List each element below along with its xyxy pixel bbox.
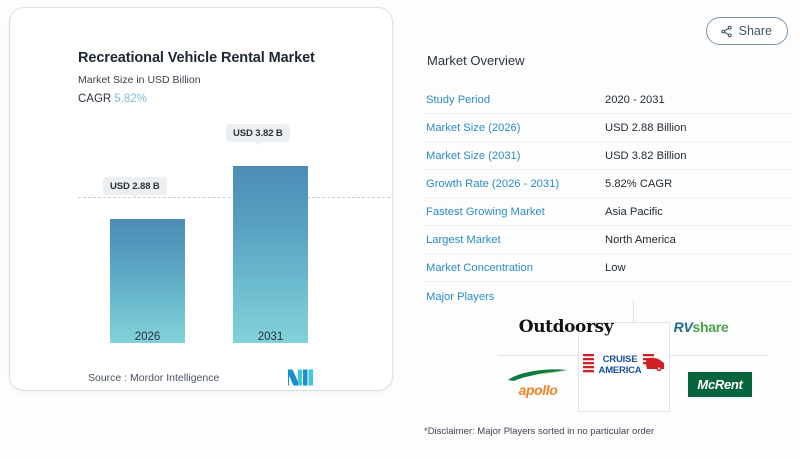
rvshare-logo: RVshare — [674, 319, 729, 335]
cagr-value: 5.82% — [114, 93, 147, 105]
row-value: Asia Pacific — [603, 198, 792, 226]
table-row: Study Period 2020 - 2031 — [424, 86, 792, 114]
player-logo-apollo[interactable]: apollo — [500, 358, 576, 410]
disclaimer-text: *Disclaimer: Major Players sorted in no … — [424, 426, 654, 437]
chart-card: Recreational Vehicle Rental Market Marke… — [10, 8, 392, 390]
rvshare-rv-text: RV — [674, 319, 693, 335]
row-key: Growth Rate (2026 - 2031) — [424, 170, 603, 198]
row-value: USD 2.88 Billion — [603, 114, 792, 142]
panel-title: Market Overview — [427, 53, 525, 68]
mcrent-logo: McRent — [688, 372, 751, 397]
cagr-row: CAGR5.82% — [78, 93, 147, 105]
cagr-label: CAGR — [78, 93, 111, 105]
apollo-swoosh-icon — [507, 369, 569, 382]
bar-2026[interactable] — [110, 219, 185, 343]
overview-table: Study Period 2020 - 2031 Market Size (20… — [424, 86, 792, 282]
row-value: Low — [603, 254, 792, 282]
player-logo-mcrent[interactable]: McRent — [673, 358, 767, 410]
x-axis-label-2031: 2031 — [233, 331, 308, 343]
table-row: Fastest Growing Market Asia Pacific — [424, 198, 792, 226]
row-key: Fastest Growing Market — [424, 198, 603, 226]
cruise-america-logo: CRUISE AMERICA — [583, 351, 665, 383]
cruise-stripes-left-icon — [583, 353, 594, 375]
rvshare-share-text: share — [693, 319, 729, 335]
row-key: Market Size (2026) — [424, 114, 603, 142]
row-key: Study Period — [424, 86, 603, 114]
row-key: Market Size (2031) — [424, 142, 603, 170]
mordor-intelligence-logo — [288, 368, 314, 386]
player-logo-cruise-america[interactable]: CRUISE AMERICA — [579, 323, 669, 411]
table-row: Market Size (2026) USD 2.88 Billion — [424, 114, 792, 142]
chart-subtitle: Market Size in USD Billion — [78, 74, 201, 86]
row-value: USD 3.82 Billion — [603, 142, 792, 170]
row-value: 5.82% CAGR — [603, 170, 792, 198]
row-key: Largest Market — [424, 226, 603, 254]
table-row: Market Concentration Low — [424, 254, 792, 282]
row-value: North America — [603, 226, 792, 254]
cruise-rv-icon — [645, 356, 665, 372]
x-axis-label-2026: 2026 — [110, 331, 185, 343]
table-row: Market Size (2031) USD 3.82 Billion — [424, 142, 792, 170]
bar-chart-plot: USD 2.88 B USD 3.82 B 2026 2031 — [78, 118, 378, 343]
major-players-label: Major Players — [426, 291, 494, 303]
page-root: Recreational Vehicle Rental Market Marke… — [0, 0, 800, 459]
table-row: Largest Market North America — [424, 226, 792, 254]
chart-source: Source : Mordor Intelligence — [88, 372, 219, 384]
apollo-wordmark: apollo — [507, 382, 569, 398]
bar-2031[interactable] — [233, 166, 308, 343]
row-key: Market Concentration — [424, 254, 603, 282]
row-value: 2020 - 2031 — [603, 86, 792, 114]
value-badge-2026: USD 2.88 B — [103, 177, 167, 195]
apollo-logo: apollo — [505, 367, 571, 401]
value-badge-2031: USD 3.82 B — [226, 124, 290, 142]
cruise-line1: CRUISE — [595, 354, 645, 365]
major-players-logo-grid: Outdoorsy RVshare apollo — [498, 300, 768, 412]
table-row: Growth Rate (2026 - 2031) 5.82% CAGR — [424, 170, 792, 198]
chart-title: Recreational Vehicle Rental Market — [78, 50, 315, 66]
cruise-america-wordmark: CRUISE AMERICA — [595, 354, 645, 376]
cruise-line2: AMERICA — [595, 365, 645, 376]
market-overview-panel: Market Overview Study Period 2020 - 2031… — [410, 8, 792, 453]
